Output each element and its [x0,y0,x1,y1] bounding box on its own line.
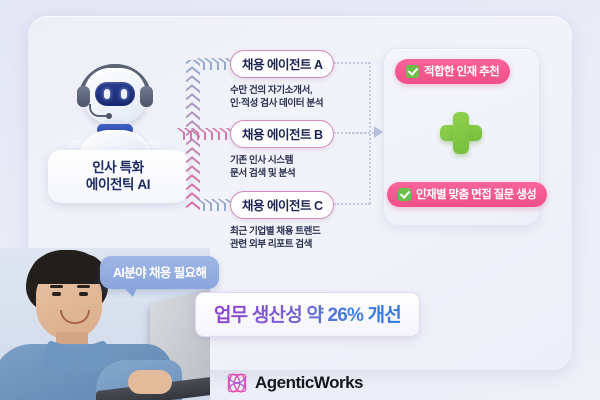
dotted-link-agent-c [334,203,370,205]
brand-name: AgenticWorks [255,373,363,393]
result-badge-interview-questions[interactable]: 인재별 맞춤 면접 질문 생성 [387,182,547,207]
robot-label-line2: 에이전틱 AI [52,176,184,193]
speech-bubble-text: AI분야 채용 필요해 [113,266,206,280]
dotted-link-agent-a [334,62,370,64]
agent-b-title: 채용 에이전트 B [230,120,334,148]
robot-label-card: 인사 특화 에이전틱 AI [48,150,188,203]
agent-c-description: 최근 기업별 채용 트렌드 관련 외부 리포트 검색 [230,225,356,251]
agent-c-desc-line1: 최근 기업별 채용 트렌드 [230,225,356,238]
kpi-banner: 업무 생산성 약 26% 개선 [195,292,420,337]
arrow-right-icon [374,126,383,138]
dotted-link-to-result [348,132,374,134]
agent-card-a[interactable]: 채용 에이전트 A 수만 건의 자기소개서, 인·적성 검사 데이터 분석 [230,50,356,110]
agent-b-desc-line1: 기존 인사 시스템 [230,154,356,167]
green-check-icon [398,188,411,201]
agent-a-description: 수만 건의 자기소개서, 인·적성 검사 데이터 분석 [230,84,356,110]
green-check-icon [406,65,419,78]
headset-earcup-right-icon [140,86,153,107]
agent-a-desc-line2: 인·적성 검사 데이터 분석 [230,97,356,110]
speech-bubble: AI분야 채용 필요해 [100,256,219,289]
person-fringe [30,254,106,284]
person-hand [128,370,172,394]
agent-a-desc-line1: 수만 건의 자기소개서, [230,84,356,97]
agent-b-desc-line2: 문서 검색 및 분석 [230,167,356,180]
chevron-arrow-to-agent-b [176,128,238,140]
agent-card-c[interactable]: 채용 에이전트 C 최근 기업별 채용 트렌드 관련 외부 리포트 검색 [230,191,356,251]
agent-b-description: 기존 인사 시스템 문서 검색 및 분석 [230,154,356,180]
agenticworks-lattice-logo-icon [226,372,248,394]
green-plus-icon [440,112,482,154]
headset-mic-tip [106,113,112,119]
footer-logo[interactable]: AgenticWorks [226,372,363,394]
agent-card-b[interactable]: 채용 에이전트 B 기존 인사 시스템 문서 검색 및 분석 [230,120,356,180]
infographic-canvas: 인사 특화 에이전틱 AI 채용 에이전트 A 수만 건의 자기소개서, 인·적… [0,0,600,400]
agent-a-title: 채용 에이전트 A [230,50,334,78]
agent-c-title: 채용 에이전트 C [230,191,334,219]
result-badge-recommend[interactable]: 적합한 인재 추천 [395,59,510,84]
result-badge-interview-label: 인재별 맞춤 면접 질문 생성 [416,186,536,202]
robot-eye-left [104,89,110,99]
robot-visor [95,82,135,106]
result-badge-recommend-label: 적합한 인재 추천 [424,63,499,79]
robot-eye-right [121,89,127,99]
robot-label-line1: 인사 특화 [52,159,184,176]
kpi-text: 업무 생산성 약 26% 개선 [214,305,401,326]
agent-c-desc-line2: 관련 외부 리포트 검색 [230,238,356,251]
